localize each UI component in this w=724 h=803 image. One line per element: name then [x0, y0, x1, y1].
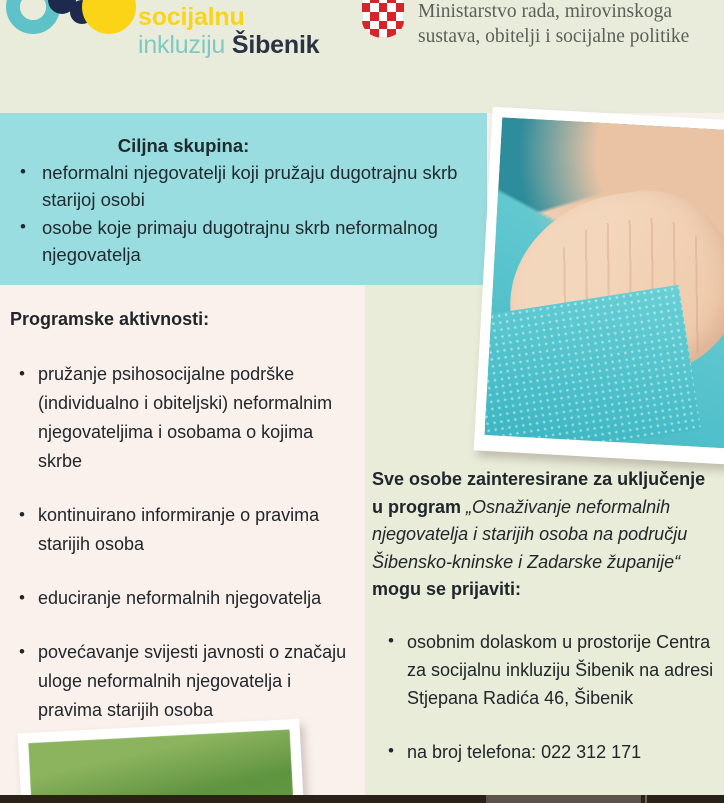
activities-section: Programske aktivnosti: pružanje psihosoc…: [0, 285, 365, 795]
activity-item: povećavanje svijesti javnosti o značaju …: [38, 638, 357, 725]
apply-method-item: na broj telefona: 022 312 171: [407, 738, 714, 766]
target-group-title: Ciljna skupina:: [0, 113, 487, 159]
apply-methods-list: osobnim dolaskom u prostorije Centra za …: [365, 604, 724, 766]
logo-line-1: Centar za socijalnu: [138, 0, 354, 31]
logo-yellow-arc-icon: [82, 0, 136, 34]
browser-chrome-bar: [0, 795, 724, 803]
activity-item: pružanje psihosocijalne podrške (individ…: [38, 360, 357, 476]
coa-checker-square: [370, 29, 378, 38]
logo-wordmark: Centar za socijalnu inkluziju Šibenik: [138, 0, 354, 59]
logo-line-2: inkluziju Šibenik: [138, 31, 354, 59]
logo-line1-highlight: socijalnu: [138, 3, 245, 31]
activities-list: pružanje psihosocijalne podrške (individ…: [0, 330, 365, 725]
logo-mark-icon: [4, 0, 136, 46]
ministry-name: Ministarstvo rada, mirovinskoga sustava,…: [418, 0, 689, 49]
logo-line2-light: inkluziju: [138, 31, 232, 59]
center-logo: Centar za socijalnu inkluziju Šibenik: [4, 0, 354, 48]
ministry-line-2: sustava, obitelji i socijalne politike: [418, 24, 689, 49]
coa-checker-square: [379, 21, 387, 30]
coa-checker-square: [370, 12, 378, 21]
coa-checker-square: [387, 0, 395, 3]
coa-checker-square: [370, 0, 378, 3]
scrollbar-divider: [645, 795, 647, 803]
ministry-block: Ministarstvo rada, mirovinskoga sustava,…: [362, 0, 689, 49]
elderly-hands-photo-frame: [484, 117, 724, 448]
elderly-couple-photo: [18, 719, 309, 795]
activity-item: kontinuirano informiranje o pravima star…: [38, 501, 357, 559]
ministry-line-1: Ministarstvo rada, mirovinskoga: [418, 0, 689, 24]
poster-canvas: Centar za socijalnu inkluziju Šibenik Mi…: [0, 0, 724, 795]
activity-item: educiranje neformalnih njegovatelja: [38, 584, 357, 613]
logo-line2-bold: Šibenik: [232, 31, 320, 59]
coa-checker-square: [362, 21, 370, 30]
elderly-couple-photo-frame: [28, 729, 297, 795]
coa-checker-square: [396, 21, 404, 30]
elderly-couple-image: [28, 729, 297, 795]
header-band: Centar za socijalnu inkluziju Šibenik Mi…: [0, 0, 724, 113]
coa-checker-square: [362, 3, 370, 12]
coa-checker-square: [396, 3, 404, 12]
horizontal-scrollbar-thumb[interactable]: [486, 795, 641, 803]
croatian-coat-of-arms-icon: [362, 0, 404, 38]
target-group-list: neformalni njegovatelji koji pružaju dug…: [0, 159, 487, 268]
target-group-item: neformalni njegovatelji koji pružaju dug…: [38, 159, 471, 213]
activities-title: Programske aktivnosti:: [0, 285, 365, 330]
coa-checker-square: [387, 12, 395, 21]
target-group-section: Ciljna skupina: neformalni njegovatelji …: [0, 113, 487, 285]
target-group-item: osobe koje primaju dugotrajnu skrb nefor…: [38, 214, 471, 268]
elderly-hands-photo: [474, 107, 724, 465]
knit-blanket-detail: [484, 285, 701, 449]
apply-intro-bold-2: mogu se prijaviti:: [372, 579, 521, 599]
coa-checker-square: [387, 29, 395, 38]
coa-checker-square: [379, 3, 387, 12]
apply-method-item: osobnim dolaskom u prostorije Centra za …: [407, 628, 714, 712]
